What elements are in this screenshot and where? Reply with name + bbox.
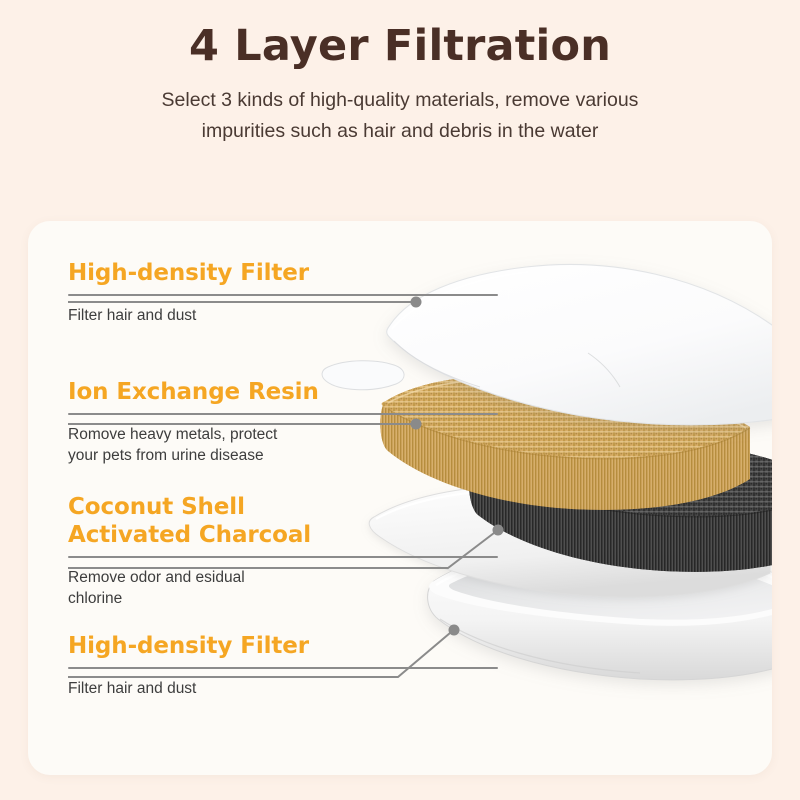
label-rule: [68, 556, 498, 558]
layer-description: Remove odor and esidual chlorine: [68, 568, 498, 609]
layer-description: Romove heavy metals, protect your pets f…: [68, 425, 498, 466]
label-rule: [68, 667, 498, 669]
layer-charcoal-mesh: [469, 440, 772, 572]
page-title: 4 Layer Filtration: [0, 22, 800, 71]
layer-title: Ion Exchange Resin: [68, 378, 498, 406]
infographic-root: 4 Layer Filtration Select 3 kinds of hig…: [0, 0, 800, 800]
layer-label-coconut-shell-activated-charcoal: Coconut Shell Activated Charcoal Remove …: [68, 493, 498, 609]
layer-title: Coconut Shell Activated Charcoal: [68, 493, 498, 549]
header: 4 Layer Filtration Select 3 kinds of hig…: [0, 0, 800, 146]
label-rule: [68, 413, 498, 415]
filtration-card: High-density Filter Filter hair and dust…: [28, 221, 772, 775]
layer-description: Filter hair and dust: [68, 679, 498, 700]
label-rule: [68, 294, 498, 296]
layer-label-high-density-filter-bottom: High-density Filter Filter hair and dust: [68, 632, 498, 700]
page-subtitle: Select 3 kinds of high-quality materials…: [150, 85, 650, 145]
layer-description: Filter hair and dust: [68, 306, 498, 327]
layer-title: High-density Filter: [68, 632, 498, 660]
layer-label-high-density-filter-top: High-density Filter Filter hair and dust: [68, 259, 498, 327]
layer-title: High-density Filter: [68, 259, 498, 287]
layer-label-ion-exchange-resin: Ion Exchange Resin Romove heavy metals, …: [68, 378, 498, 466]
